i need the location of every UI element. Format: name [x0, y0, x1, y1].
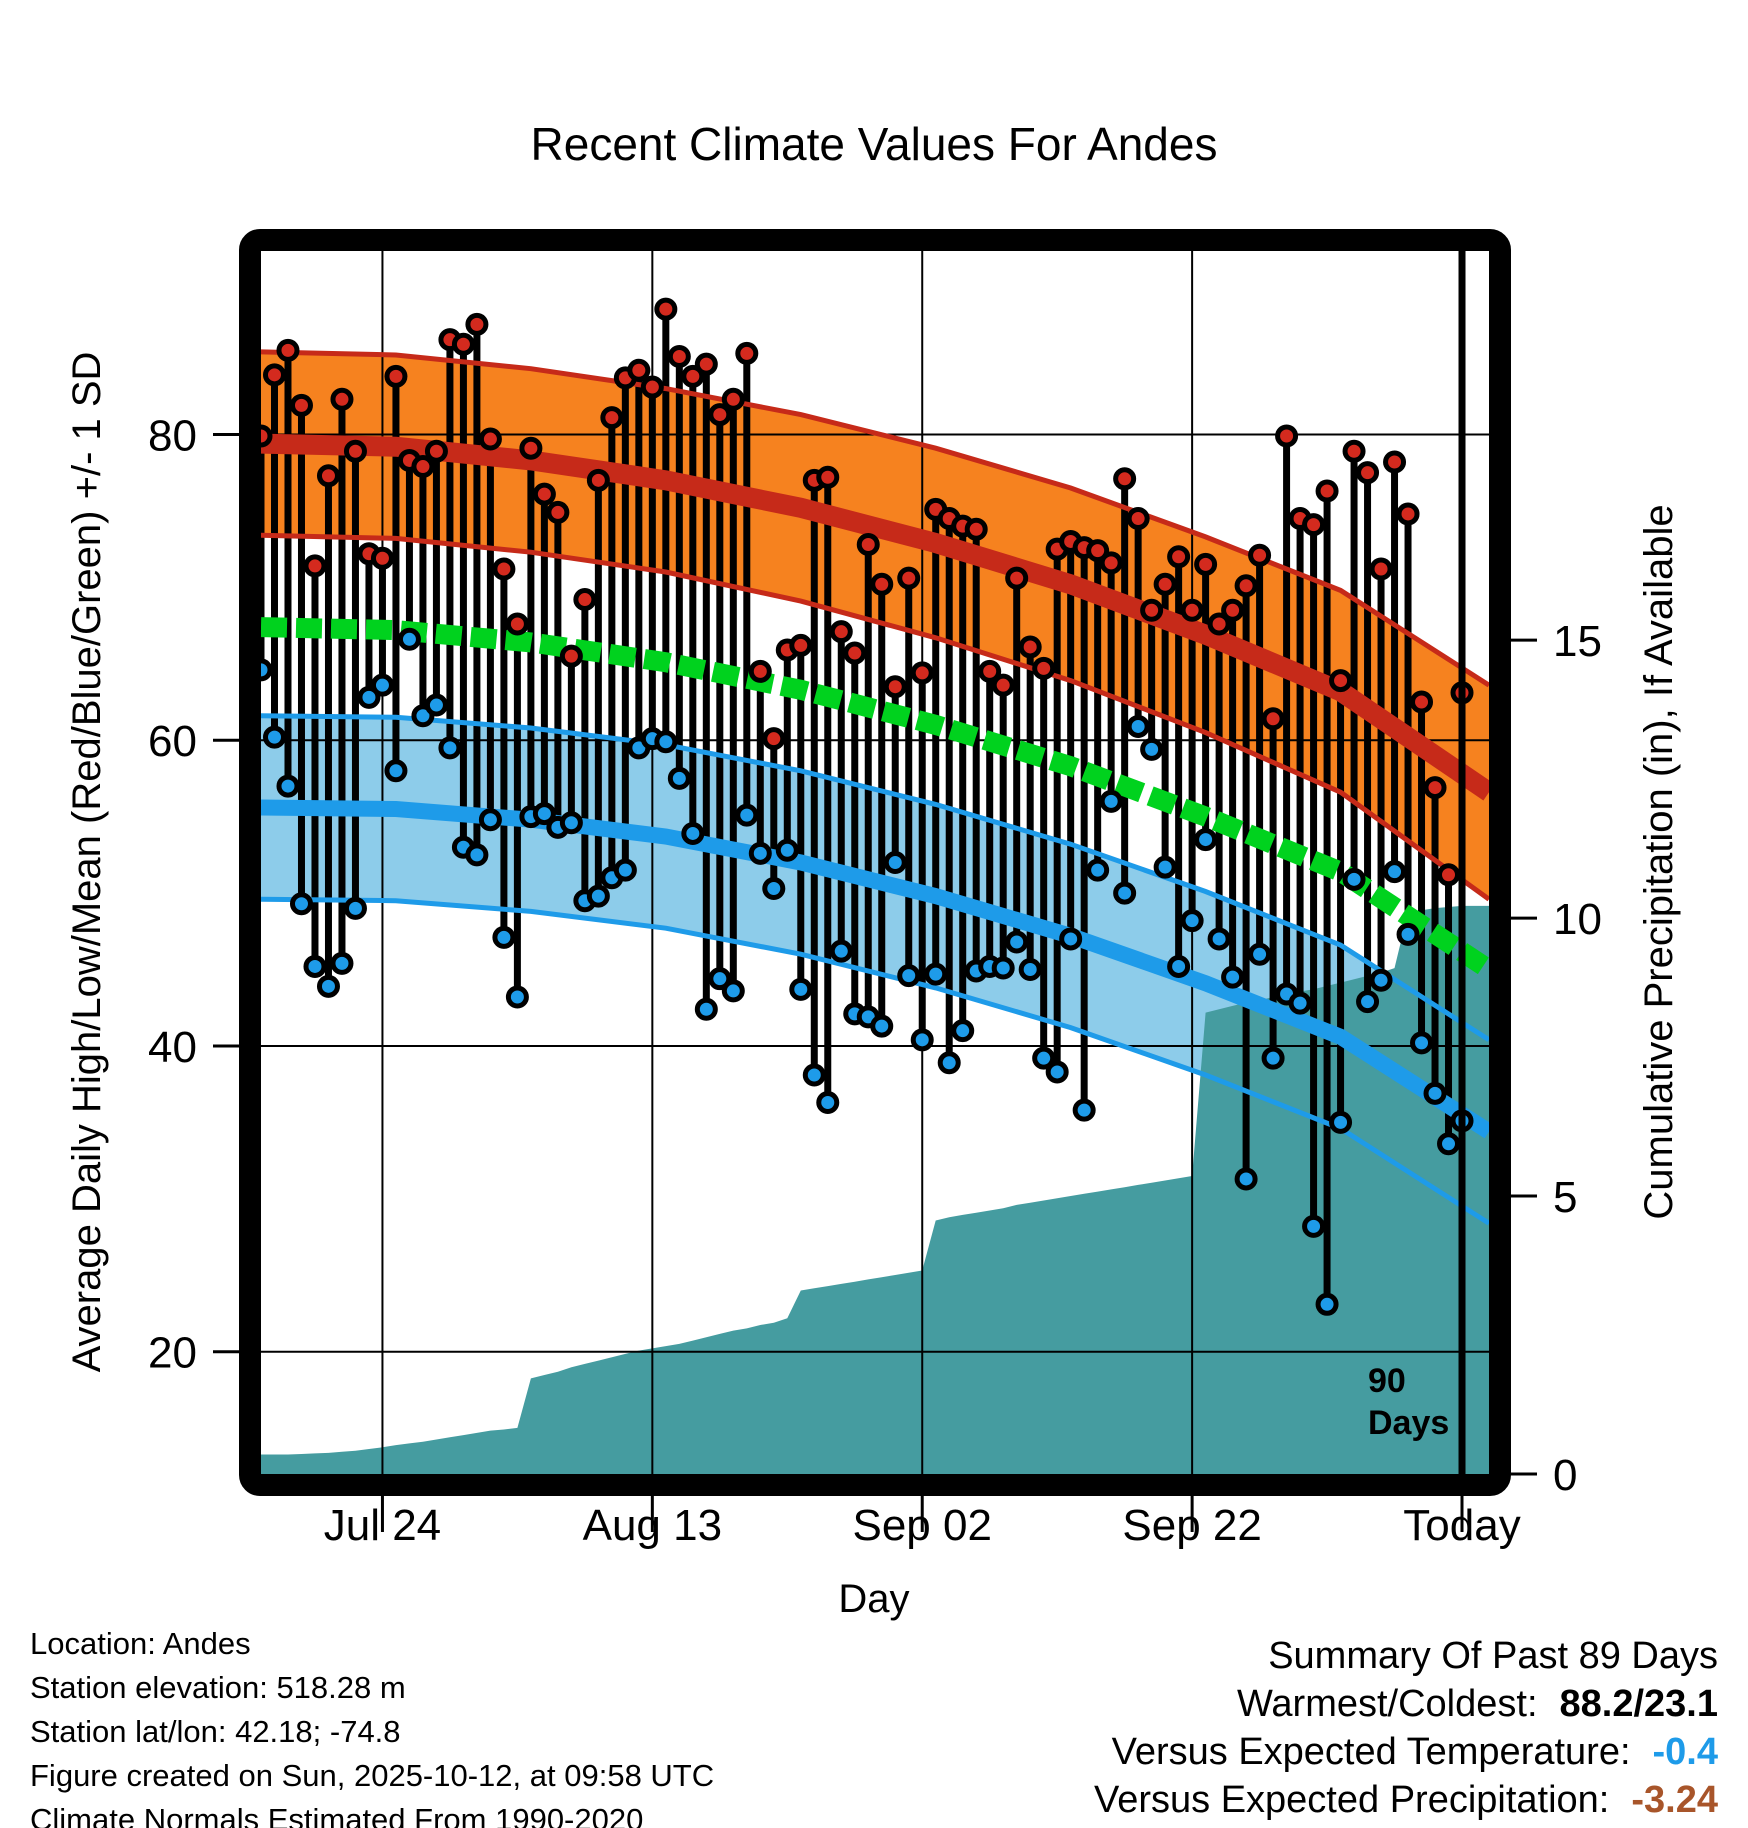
x-tick-label: Aug 13	[583, 1501, 722, 1550]
daily-high-marker	[1305, 516, 1323, 534]
daily-high-marker	[1345, 442, 1363, 460]
daily-high-marker	[1372, 560, 1390, 578]
daily-high-marker	[562, 647, 580, 665]
daily-high-marker	[1278, 427, 1296, 445]
daily-low-marker	[306, 957, 324, 975]
today-annotation-days-label: Days	[1368, 1404, 1449, 1442]
daily-high-marker	[913, 664, 931, 682]
daily-high-marker	[900, 569, 918, 587]
daily-high-marker	[333, 390, 351, 408]
daily-high-marker	[1102, 554, 1120, 572]
y2-tick-label: 15	[1553, 617, 1602, 666]
x-tick-label: Sep 22	[1122, 1501, 1261, 1550]
daily-high-marker	[535, 485, 553, 503]
daily-low-marker	[886, 854, 904, 872]
daily-low-marker	[751, 844, 769, 862]
daily-low-marker	[481, 811, 499, 829]
daily-low-marker	[562, 814, 580, 832]
daily-low-marker	[616, 861, 634, 879]
daily-low-marker	[900, 967, 918, 985]
daily-low-marker	[333, 954, 351, 972]
daily-high-marker	[1264, 710, 1282, 728]
x-tick-label: Sep 02	[852, 1501, 991, 1550]
y-tick-label: 60	[148, 717, 197, 766]
daily-low-marker	[1426, 1084, 1444, 1102]
daily-low-marker	[589, 887, 607, 905]
daily-low-marker	[346, 899, 364, 917]
daily-high-marker	[427, 442, 445, 460]
daily-low-marker	[1413, 1034, 1431, 1052]
daily-low-marker	[1129, 717, 1147, 735]
today-annotation-days-count: 90	[1368, 1362, 1406, 1400]
daily-low-marker	[1075, 1101, 1093, 1119]
daily-low-marker	[724, 982, 742, 1000]
daily-low-marker	[1183, 912, 1201, 930]
daily-low-marker	[778, 841, 796, 859]
daily-low-marker	[913, 1031, 931, 1049]
daily-low-marker	[1210, 930, 1228, 948]
daily-high-marker	[319, 467, 337, 485]
daily-low-marker	[940, 1054, 958, 1072]
daily-low-marker	[1386, 863, 1404, 881]
daily-high-marker	[630, 361, 648, 379]
metadata-line: Station elevation: 518.28 m	[30, 1670, 406, 1705]
daily-high-marker	[886, 678, 904, 696]
summary-label: Versus Expected Precipitation:	[1094, 1779, 1609, 1821]
y2-tick-label: 5	[1553, 1173, 1577, 1222]
daily-low-marker	[279, 777, 297, 795]
daily-high-marker	[724, 390, 742, 408]
daily-high-marker	[994, 676, 1012, 694]
daily-high-marker	[846, 644, 864, 662]
daily-high-marker	[1170, 548, 1188, 566]
daily-high-marker	[508, 615, 526, 633]
summary-label: Warmest/Coldest:	[1237, 1683, 1538, 1725]
daily-low-marker	[319, 977, 337, 995]
left-axis-label: Average Daily High/Low/Mean (Red/Blue/Gr…	[65, 352, 109, 1373]
daily-low-marker	[792, 980, 810, 998]
daily-high-marker	[738, 344, 756, 362]
daily-low-marker	[1116, 884, 1134, 902]
daily-high-marker	[1183, 601, 1201, 619]
daily-low-marker	[805, 1066, 823, 1084]
daily-low-marker	[873, 1017, 891, 1035]
daily-high-marker	[967, 520, 985, 538]
daily-low-marker	[292, 895, 310, 913]
daily-high-marker	[454, 335, 472, 353]
daily-low-marker	[684, 824, 702, 842]
daily-high-marker	[1318, 482, 1336, 500]
daily-low-marker	[1399, 925, 1417, 943]
daily-low-marker	[697, 1000, 715, 1018]
y2-tick-label: 10	[1553, 895, 1602, 944]
daily-high-marker	[1426, 779, 1444, 797]
summary-value: -3.24	[1631, 1779, 1718, 1821]
x-axis-label: Day	[838, 1577, 909, 1621]
daily-low-marker	[508, 988, 526, 1006]
x-tick-label: Jul 24	[324, 1501, 441, 1550]
daily-low-marker	[1332, 1113, 1350, 1131]
daily-high-marker	[414, 458, 432, 476]
daily-low-marker	[819, 1094, 837, 1112]
daily-low-marker	[1021, 961, 1039, 979]
daily-high-marker	[1197, 555, 1215, 573]
daily-high-marker	[1440, 866, 1458, 884]
daily-low-marker	[1008, 933, 1026, 951]
daily-low-marker	[994, 959, 1012, 977]
daily-low-marker	[657, 733, 675, 751]
daily-low-marker	[1251, 945, 1269, 963]
daily-high-marker	[751, 662, 769, 680]
daily-high-marker	[1116, 470, 1134, 488]
daily-high-marker	[1008, 569, 1026, 587]
daily-low-marker	[1143, 740, 1161, 758]
daily-high-marker	[387, 367, 405, 385]
daily-low-marker	[468, 846, 486, 864]
daily-high-marker	[265, 366, 283, 384]
daily-low-marker	[1170, 957, 1188, 975]
daily-low-marker	[1359, 993, 1377, 1011]
daily-high-marker	[1035, 659, 1053, 677]
right-axis-label: Cumulative Precipitation (in), If Availa…	[1637, 504, 1681, 1219]
daily-high-marker	[1332, 672, 1350, 690]
daily-high-marker	[495, 560, 513, 578]
daily-low-marker	[1089, 861, 1107, 879]
daily-low-marker	[1264, 1049, 1282, 1067]
daily-low-marker	[670, 769, 688, 787]
summary-value: 88.2/23.1	[1560, 1683, 1718, 1725]
y-tick-label: 40	[148, 1023, 197, 1072]
daily-high-marker	[589, 471, 607, 489]
metadata-line: Location: Andes	[30, 1626, 251, 1661]
daily-high-marker	[603, 409, 621, 427]
daily-high-marker	[873, 575, 891, 593]
daily-high-marker	[576, 591, 594, 609]
metadata-line: Climate Normals Estimated From 1990-2020	[30, 1802, 643, 1828]
daily-low-marker	[1197, 831, 1215, 849]
daily-high-marker	[346, 442, 364, 460]
daily-low-marker	[1318, 1295, 1336, 1313]
daily-high-marker	[1129, 510, 1147, 528]
daily-low-marker	[1305, 1217, 1323, 1235]
daily-high-marker	[819, 468, 837, 486]
daily-high-marker	[1237, 577, 1255, 595]
summary-value: -0.4	[1653, 1731, 1718, 1773]
metadata-line: Station lat/lon: 42.18; -74.8	[30, 1714, 401, 1749]
daily-low-marker	[441, 739, 459, 757]
daily-low-marker	[1440, 1135, 1458, 1153]
daily-high-marker	[643, 378, 661, 396]
daily-high-marker	[468, 315, 486, 333]
daily-high-marker	[697, 355, 715, 373]
y2-tick-label: 0	[1553, 1451, 1577, 1500]
daily-high-marker	[481, 430, 499, 448]
daily-low-marker	[1156, 858, 1174, 876]
daily-high-marker	[1399, 505, 1417, 523]
daily-high-marker	[1224, 601, 1242, 619]
y-tick-label: 20	[148, 1329, 197, 1378]
daily-high-marker	[292, 396, 310, 414]
daily-high-marker	[765, 730, 783, 748]
summary-label: Versus Expected Temperature:	[1112, 1731, 1631, 1773]
daily-high-marker	[279, 341, 297, 359]
summary-heading: Summary Of Past 89 Days	[1268, 1635, 1718, 1677]
daily-high-marker	[859, 536, 877, 554]
metadata-line: Figure created on Sun, 2025-10-12, at 09…	[30, 1758, 714, 1793]
x-tick-label: Today	[1403, 1501, 1520, 1550]
climate-chart-figure: Recent Climate Values For Andes Average …	[0, 0, 1748, 1828]
daily-high-marker	[1021, 638, 1039, 656]
daily-high-marker	[711, 406, 729, 424]
daily-low-marker	[765, 879, 783, 897]
daily-low-marker	[1224, 968, 1242, 986]
daily-low-marker	[1291, 994, 1309, 1012]
daily-low-marker	[1102, 792, 1120, 810]
daily-high-marker	[1251, 546, 1269, 564]
daily-high-marker	[1156, 575, 1174, 593]
daily-low-marker	[832, 942, 850, 960]
daily-low-marker	[373, 676, 391, 694]
daily-low-marker	[265, 728, 283, 746]
daily-high-marker	[657, 300, 675, 318]
y-tick-label: 80	[148, 411, 197, 460]
daily-high-marker	[832, 623, 850, 641]
daily-high-marker	[522, 439, 540, 457]
daily-high-marker	[373, 549, 391, 567]
daily-high-marker	[1386, 453, 1404, 471]
daily-high-marker	[1143, 601, 1161, 619]
daily-low-marker	[387, 762, 405, 780]
daily-low-marker	[927, 965, 945, 983]
daily-low-marker	[427, 696, 445, 714]
daily-high-marker	[670, 347, 688, 365]
daily-high-marker	[306, 557, 324, 575]
daily-low-marker	[954, 1022, 972, 1040]
daily-high-marker	[1359, 464, 1377, 482]
daily-low-marker	[400, 630, 418, 648]
daily-low-marker	[1237, 1170, 1255, 1188]
daily-high-marker	[549, 503, 567, 521]
daily-low-marker	[1345, 870, 1363, 888]
daily-low-marker	[738, 806, 756, 824]
daily-low-marker	[495, 928, 513, 946]
daily-low-marker	[1048, 1063, 1066, 1081]
daily-high-marker	[1413, 693, 1431, 711]
daily-low-marker	[1372, 971, 1390, 989]
daily-high-marker	[792, 636, 810, 654]
daily-low-marker	[1062, 930, 1080, 948]
page-title: Recent Climate Values For Andes	[531, 118, 1218, 170]
